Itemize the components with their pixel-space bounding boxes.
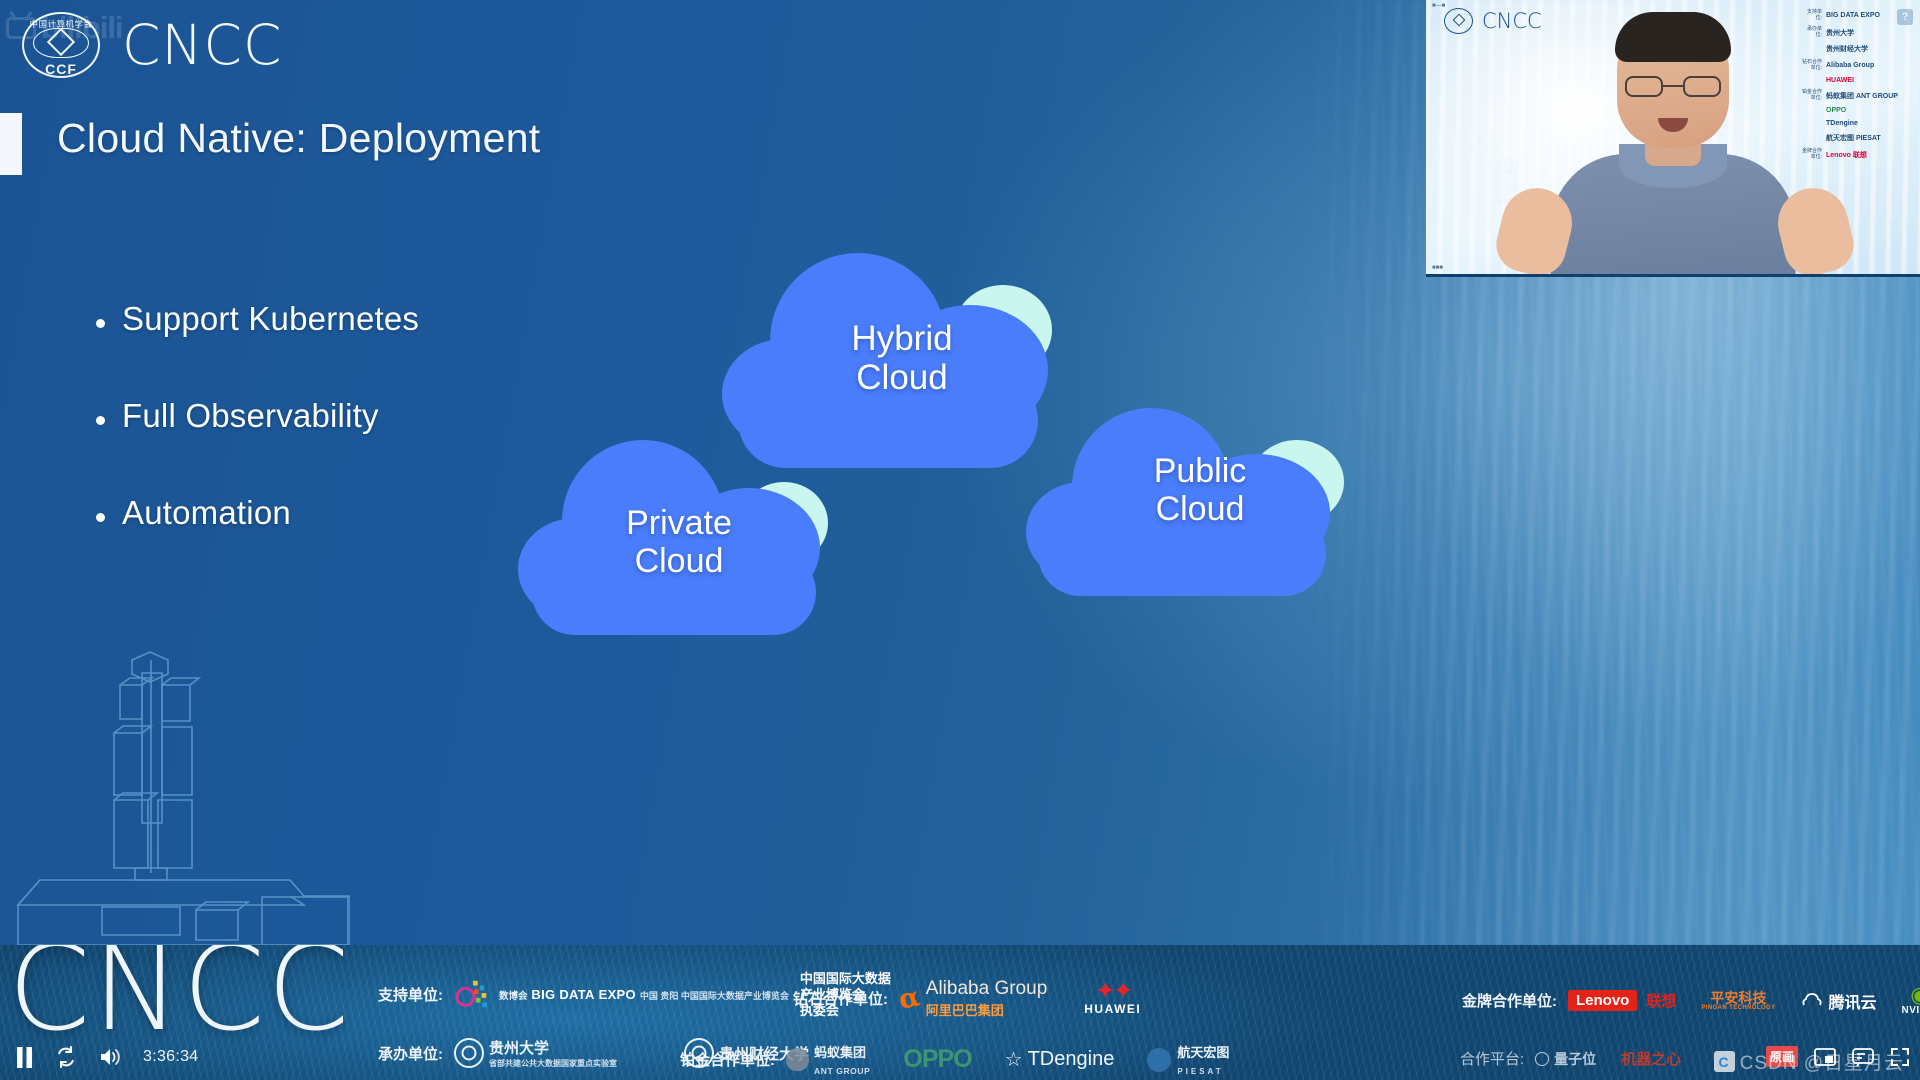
bullet-label: Full Observability: [122, 397, 379, 435]
loop-button[interactable]: [55, 1046, 77, 1068]
public-cloud-label: Public Cloud: [1090, 452, 1310, 528]
video-player-stage: bilibili 中国计算机学会 CCF CNCC Cloud Native: …: [0, 0, 1920, 1080]
ant-group-icon: [786, 1048, 809, 1071]
university-seal-icon: [454, 1038, 484, 1068]
bigdata-expo-wordmark: 数博会 BIG DATA EXPO 中国 贵阳 中国国际大数据产业博览会: [499, 987, 789, 1002]
speaker-hair: [1615, 12, 1731, 62]
bullet-label: Support Kubernetes: [122, 300, 419, 338]
lenovo-logo: Lenovo 联想: [1568, 990, 1676, 1011]
title-accent-bar: [0, 113, 22, 175]
alibaba-icon: α: [896, 981, 923, 1016]
lenovo-cn-name: 联想: [1646, 990, 1676, 1011]
hybrid-cloud-label: Hybrid Cloud: [782, 319, 1022, 397]
oppo-logo: OPPO: [903, 1045, 971, 1074]
tencent-cloud-logo: 腾讯云: [1801, 989, 1877, 1013]
nvidia-name: NVIDIA: [1902, 1005, 1920, 1016]
pingan-logo: 平安科技 PINGAN TECHNOLOGY: [1701, 991, 1775, 1011]
sponsor-row-diamond: 钻石合作单位: α Alibaba Group 阿里巴巴集团 ✦✦ HUAWEI: [793, 978, 1141, 1019]
cncc-wordmark: CNCC: [122, 13, 282, 77]
huawei-name: HUAWEI: [1084, 1002, 1141, 1016]
csdn-icon: C: [1714, 1051, 1735, 1072]
sponsor-row-label: 金牌合作单位:: [1462, 990, 1557, 1011]
speaker-video-overlay[interactable]: ■—■ ■■■ CNCC: [1426, 0, 1920, 277]
speaker-glasses-icon: [1625, 76, 1721, 98]
list-item: OPPO: [1802, 107, 1914, 114]
tdengine-logo: ☆ TDengine: [1005, 1047, 1115, 1072]
piesat-logo: 航天宏图 PIESAT: [1147, 1042, 1229, 1077]
help-button[interactable]: ?: [1897, 9, 1913, 25]
sponsor-row-media: 合作平台: 量子位 机器之心: [1460, 1048, 1681, 1069]
piesat-cn-name: 航天宏图: [1177, 1042, 1229, 1061]
ccf-seal-icon: 中国计算机学会 CCF: [22, 12, 100, 78]
pip-sponsor-rail: 支持单位:BIG DATA EXPO 承办单位:贵州大学 贵州财经大学 钻石合作…: [1802, 10, 1914, 160]
sponsor-row-label: 铂金合作单位:: [680, 1049, 775, 1070]
tdengine-name: TDengine: [1028, 1048, 1115, 1071]
lenovo-name: Lenovo: [1568, 990, 1637, 1011]
list-item: 金牌合作单位:Lenovo 联想: [1802, 149, 1914, 160]
ccf-seal-cn-label: 中国计算机学会: [22, 18, 100, 30]
list-item: 承办单位:贵州大学: [1802, 27, 1914, 38]
qbitai-name: 量子位: [1554, 1049, 1596, 1069]
cncc-footer-wordmark: CNCC: [8, 945, 351, 1057]
hybrid-cloud-shape: Hybrid Cloud: [722, 253, 1052, 468]
bullet-dot-icon: [96, 416, 105, 425]
bigdata-expo-icon: [454, 978, 492, 1012]
list-item: Support Kubernetes: [96, 300, 419, 338]
sponsor-row-gold: 金牌合作单位: Lenovo 联想 平安科技 PINGAN TECHNOLOGY…: [1462, 985, 1920, 1016]
ccf-seal-abbr-label: CCF: [22, 61, 100, 77]
sponsor-row-platinum: 铂金合作单位: 蚂蚁集团 ANT GROUP OPPO ☆ TDengine 航…: [680, 1042, 1229, 1077]
list-item: Full Observability: [96, 397, 419, 435]
tencent-cloud-name: 腾讯云: [1829, 989, 1877, 1013]
alibaba-name: Alibaba Group: [926, 978, 1047, 1000]
qbitai-icon: [1535, 1052, 1549, 1066]
bullet-dot-icon: [96, 513, 105, 522]
university-name: 贵州大学: [489, 1039, 549, 1057]
volume-button[interactable]: [99, 1047, 121, 1067]
jiqizhixin-logo: 机器之心: [1621, 1048, 1681, 1069]
page-title: Cloud Native: Deployment: [57, 115, 540, 162]
csdn-watermark: C CSDN @日星月云: [1714, 1048, 1904, 1075]
private-cloud-shape: Private Cloud: [518, 440, 830, 635]
sponsor-row-label: 合作平台:: [1460, 1048, 1524, 1069]
huawei-icon: ✦✦: [1095, 977, 1131, 1005]
bullet-label: Automation: [122, 494, 291, 532]
list-item: TDengine: [1802, 120, 1914, 127]
player-controls-left: 3:36:34: [16, 1046, 198, 1068]
bullet-dot-icon: [96, 319, 105, 328]
bigdata-expo-logo: 数博会 BIG DATA EXPO 中国 贵阳 中国国际大数据产业博览会: [454, 978, 789, 1012]
guizhou-university-logo: 贵州大学 省部共建公共大数据国家重点实验室: [454, 1037, 617, 1069]
current-time-label: 3:36:34: [143, 1048, 198, 1066]
nvidia-icon: ◉: [1910, 982, 1920, 1007]
university-sublabel: 省部共建公共大数据国家重点实验室: [489, 1058, 617, 1069]
piesat-icon: [1147, 1048, 1171, 1072]
private-cloud-label: Private Cloud: [566, 504, 792, 580]
list-item: 贵州财经大学: [1802, 44, 1914, 54]
pip-bottom-badge: ■■■: [1432, 265, 1443, 271]
pause-button[interactable]: [16, 1047, 33, 1068]
sponsor-row-label: 承办单位:: [378, 1043, 443, 1064]
pingan-name: 平安科技: [1710, 990, 1766, 1006]
list-item: 航天宏图 PIESAT: [1802, 133, 1914, 143]
piesat-en-name: PIESAT: [1177, 1067, 1223, 1076]
sponsor-row-label: 钻石合作单位:: [793, 988, 888, 1009]
wireframe-tower-decoration: [10, 615, 350, 945]
cncc-header-brand: 中国计算机学会 CCF CNCC: [22, 12, 282, 78]
list-item: 铂金合作单位:蚂蚁集团 ANT GROUP: [1802, 90, 1914, 101]
nvidia-logo: ◉ NVIDIA: [1902, 985, 1920, 1016]
csdn-watermark-label: CSDN @日星月云: [1740, 1048, 1904, 1075]
pingan-en-name: PINGAN TECHNOLOGY: [1701, 1005, 1775, 1011]
tencent-cloud-icon: [1801, 992, 1823, 1009]
huawei-logo: ✦✦ HUAWEI: [1084, 981, 1141, 1016]
tdengine-icon: ☆: [1005, 1047, 1023, 1072]
pip-top-badge: ■—■: [1432, 3, 1445, 9]
public-cloud-shape: Public Cloud: [1026, 408, 1338, 596]
sponsor-band: CNCC 支持单位: 数博会 BIG DATA EXPO 中国: [0, 945, 1920, 1080]
ant-group-en-name: ANT GROUP: [814, 1066, 870, 1076]
ant-group-logo: 蚂蚁集团 ANT GROUP: [786, 1042, 870, 1077]
qbitai-logo: 量子位: [1535, 1049, 1596, 1069]
list-item: 钻石合作单位:Alibaba Group: [1802, 60, 1914, 71]
bullet-list: Support Kubernetes Full Observability Au…: [96, 300, 419, 591]
alibaba-logo: α Alibaba Group 阿里巴巴集团: [899, 978, 1047, 1019]
ant-group-cn-name: 蚂蚁集团: [814, 1042, 870, 1061]
sponsor-row-label: 支持单位:: [378, 984, 443, 1005]
list-item: HUAWEI: [1802, 77, 1914, 84]
list-item: Automation: [96, 494, 419, 532]
alibaba-cn-name: 阿里巴巴集团: [926, 1003, 1004, 1018]
